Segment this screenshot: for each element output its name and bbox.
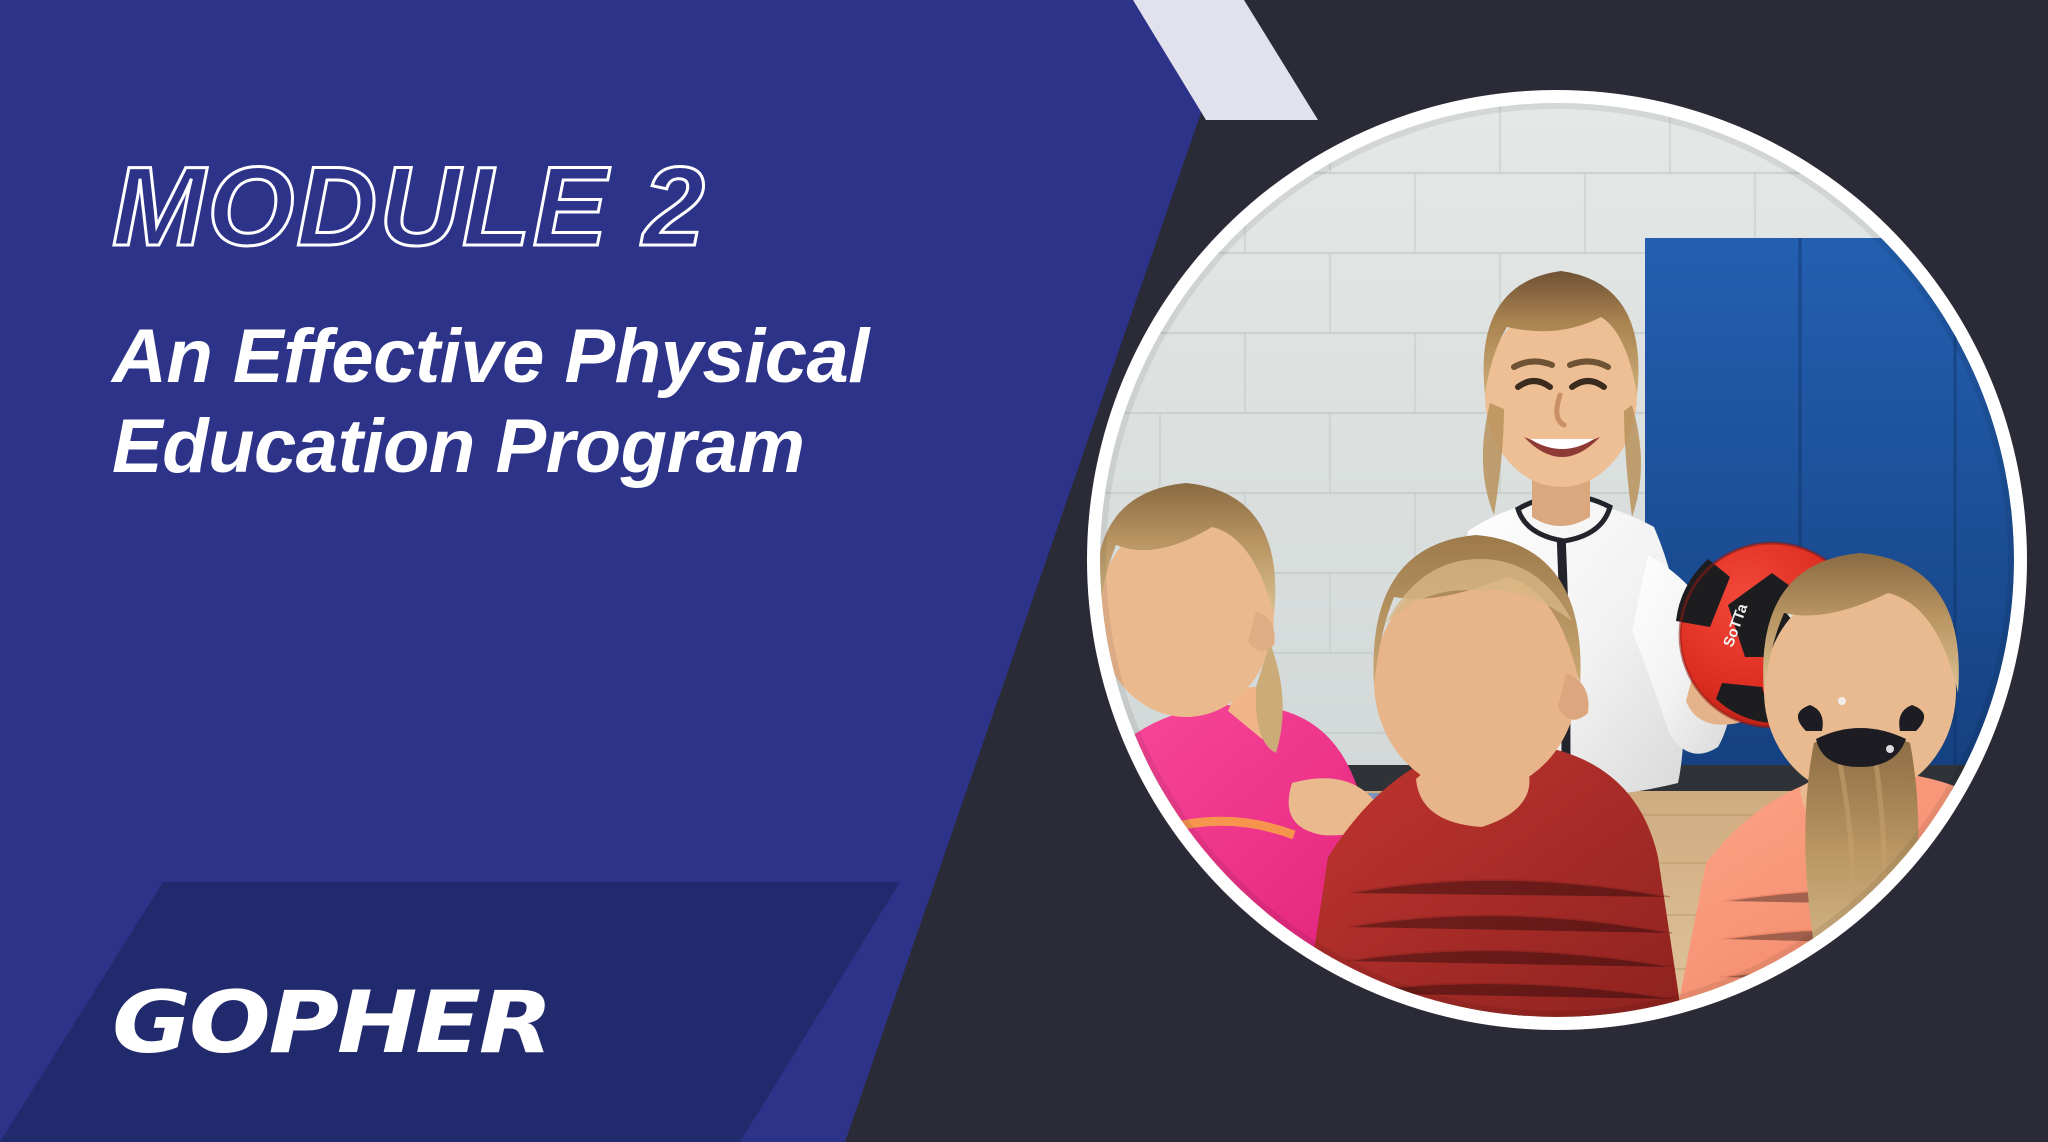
- slide-canvas: MODULE 2 An Effective Physical Education…: [0, 0, 2048, 1142]
- page-title-line-1: An Effective Physical: [112, 312, 972, 402]
- photo-circle-frame: iL5 SoTTa: [1087, 90, 2027, 1030]
- headline-block: MODULE 2 An Effective Physical Education…: [112, 150, 972, 492]
- page-title-line-2: Education Program: [112, 402, 972, 492]
- page-title: An Effective Physical Education Program: [112, 312, 972, 491]
- gopher-logo: GOPHER: [112, 980, 551, 1066]
- module-eyebrow-label: MODULE 2: [112, 150, 972, 264]
- photo-image: iL5 SoTTa: [1100, 103, 2014, 1017]
- gym-scene-illustration: iL5 SoTTa: [1100, 103, 2014, 1017]
